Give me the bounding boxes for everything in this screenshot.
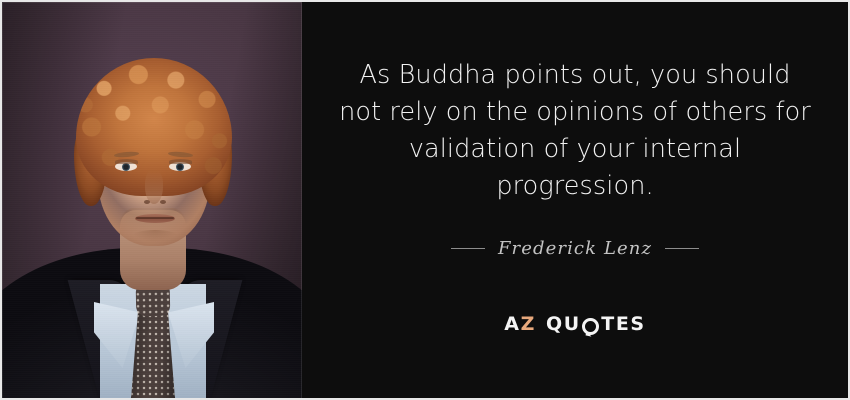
logo-letter-z: Z	[521, 313, 536, 335]
attribution: Frederick Lenz	[339, 238, 811, 259]
speech-bubble-icon	[582, 318, 599, 335]
logo-letter-q: Q	[546, 313, 564, 335]
logo-letter-e: E	[616, 313, 631, 335]
quote-card: As Buddha points out, you should not rel…	[0, 0, 850, 400]
eyelid-left	[115, 159, 138, 164]
necktie-knot-pattern	[136, 286, 171, 317]
logo-letter-s: S	[630, 313, 645, 335]
nose	[145, 170, 163, 204]
nostril-left	[144, 200, 150, 204]
quote-text: As Buddha points out, you should not rel…	[339, 57, 811, 205]
attribution-rule-right	[665, 248, 699, 249]
logo-letter-t: T	[601, 313, 616, 335]
author-name: Frederick Lenz	[498, 238, 652, 259]
quote-panel: As Buddha points out, you should not rel…	[302, 2, 848, 398]
logo-letter-u: U	[564, 313, 581, 335]
attribution-rule-left	[451, 248, 485, 249]
lip-line	[136, 217, 174, 219]
eyelid-right	[169, 159, 192, 164]
chin-shadow	[132, 230, 178, 242]
author-portrait-photo	[2, 2, 302, 400]
necktie-knot	[136, 286, 171, 317]
logo-letter-a: A	[504, 313, 520, 335]
az-quotes-logo[interactable]: AZ QUTES	[504, 313, 645, 335]
portrait-subject	[2, 2, 302, 400]
nostril-right	[160, 200, 166, 204]
